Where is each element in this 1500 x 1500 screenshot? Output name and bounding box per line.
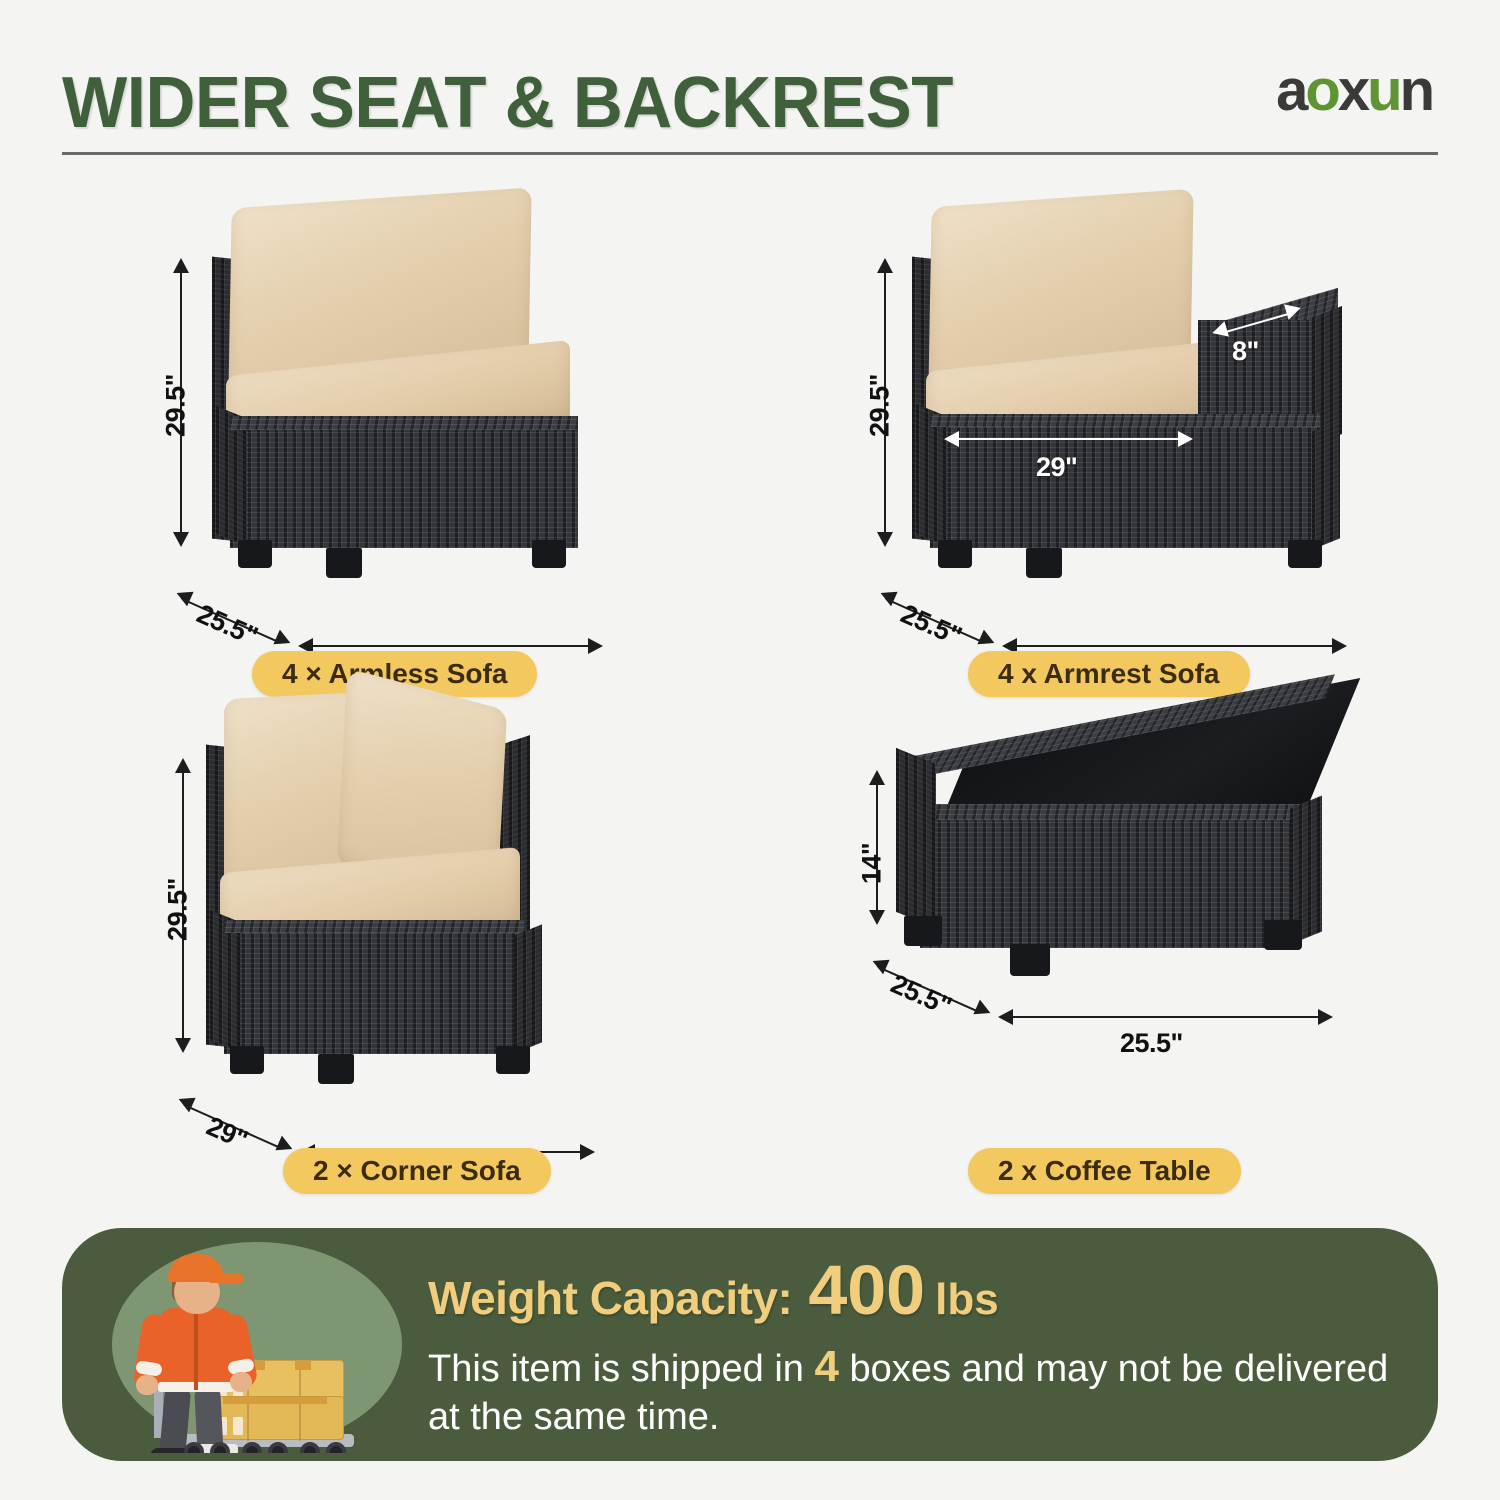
delivery-worker-icon (80, 1236, 410, 1453)
product-armrest-sofa: 29.5" 25.5" 37" 29" 8" (840, 180, 1460, 700)
dim-armrest-seat-width: 29" (1036, 452, 1077, 483)
logo-letter-n: n (1400, 58, 1432, 123)
weight-capacity-line: Weight Capacity: 400 lbs (428, 1250, 1418, 1330)
product-corner-sofa: 29.5" 29" 29" (120, 680, 740, 1200)
weight-capacity-value: 400 (808, 1250, 925, 1330)
dim-corner-depth: 29" (170, 1097, 283, 1170)
cardboard-box-bottom (202, 1396, 344, 1440)
dim-corner-height: 29.5" (163, 850, 194, 970)
shipping-note-prefix: This item is shipped in (428, 1348, 804, 1390)
logo-letter-u: u (1367, 58, 1399, 123)
worker-cap-brim (210, 1274, 244, 1283)
logo-letter-a: a (1276, 58, 1305, 123)
shipping-box-count: 4 (815, 1342, 839, 1391)
header-divider (62, 152, 1438, 155)
logo-letter-x: x (1338, 58, 1367, 123)
shipping-note: This item is shipped in 4 boxes and may … (428, 1340, 1418, 1440)
brand-logo: aoxun (1276, 62, 1432, 120)
worker-hand-right (230, 1372, 252, 1392)
worker-jacket-zip (194, 1310, 198, 1390)
worker-leg-left (159, 1387, 191, 1453)
header: WIDER SEAT & BACKREST aoxun (0, 0, 1500, 170)
dim-table-height: 14" (857, 816, 888, 912)
dim-table-width: 25.5" (1120, 1028, 1183, 1059)
product-armless-sofa: 29.5" 25.5" 29" (120, 180, 740, 700)
product-coffee-table: 14" 25.5" 25.5" (840, 680, 1460, 1200)
dim-table-depth: 25.5" (855, 955, 986, 1036)
infographic-page: WIDER SEAT & BACKREST aoxun (0, 0, 1500, 1500)
dim-armrest-depth: 25.5" (865, 585, 996, 666)
weight-capacity-unit: lbs (935, 1275, 999, 1325)
worker-hand-left (136, 1375, 158, 1395)
dim-armrest-height: 29.5" (865, 346, 896, 466)
dim-armrest-arm-width: 8" (1232, 336, 1259, 367)
page-title: WIDER SEAT & BACKREST (62, 62, 953, 144)
shipping-banner: Weight Capacity: 400 lbs This item is sh… (62, 1228, 1438, 1461)
banner-text-block: Weight Capacity: 400 lbs This item is sh… (428, 1244, 1418, 1440)
label-corner-sofa: 2 × Corner Sofa (283, 1148, 551, 1194)
dim-armless-height: 29.5" (161, 346, 192, 466)
weight-capacity-label: Weight Capacity: (428, 1271, 792, 1325)
label-coffee-table: 2 x Coffee Table (968, 1148, 1241, 1194)
logo-letter-o: o (1305, 58, 1337, 123)
